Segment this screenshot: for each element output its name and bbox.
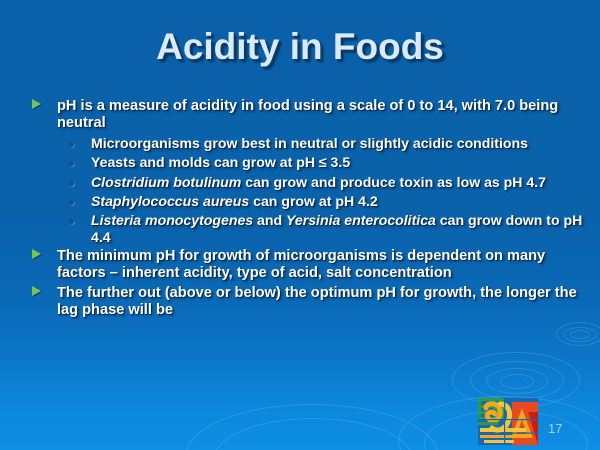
list-item: The minimum pH for growth of microorgani… xyxy=(22,248,584,282)
list-item-label: pH is a measure of acidity in food using… xyxy=(57,98,558,131)
arrow-bullet-icon xyxy=(32,99,41,109)
list-item-label: can grow at pH 4.2 xyxy=(249,193,377,209)
species-name: Yersinia enterocolitica xyxy=(286,212,436,228)
list-item: Microorganisms grow best in neutral or s… xyxy=(57,135,584,151)
list-item: The further out (above or below) the opt… xyxy=(22,285,584,319)
arrow-bullet-icon xyxy=(32,286,41,296)
species-name: Staphylococcus aureus xyxy=(91,193,249,209)
list-item-label: The further out (above or below) the opt… xyxy=(57,285,577,318)
slide-number: 17 xyxy=(548,421,562,436)
species-name: Listeria monocytogenes xyxy=(91,212,253,228)
bullet-list: pH is a measure of acidity in food using… xyxy=(22,98,584,321)
dot-bullet-icon xyxy=(69,142,74,147)
list-item-label: can grow and produce toxin as low as pH … xyxy=(241,174,546,190)
list-item-conjunction: and xyxy=(253,212,286,228)
logo-graphic xyxy=(478,398,538,445)
list-item: Listeria monocytogenes and Yersinia ente… xyxy=(57,212,584,245)
list-item: Staphylococcus aureus can grow at pH 4.2 xyxy=(57,193,584,209)
dot-bullet-icon xyxy=(69,200,74,205)
list-item-label: Microorganisms grow best in neutral or s… xyxy=(91,135,528,151)
dot-bullet-icon xyxy=(69,219,74,224)
list-item: pH is a measure of acidity in food using… xyxy=(22,98,584,132)
page-title: Acidity in Foods xyxy=(0,26,600,68)
dot-bullet-icon xyxy=(69,161,74,166)
slide-canvas: Acidity in Foods pH is a measure of acid… xyxy=(0,0,600,450)
species-name: Clostridium botulinum xyxy=(91,174,241,190)
dot-bullet-icon xyxy=(69,181,74,186)
organization-logo xyxy=(478,398,538,445)
list-item: Clostridium botulinum can grow and produ… xyxy=(57,174,584,190)
arrow-bullet-icon xyxy=(32,249,41,259)
list-item-label: The minimum pH for growth of microorgani… xyxy=(57,248,545,281)
list-item-label: Yeasts and molds can grow at pH ≤ 3.5 xyxy=(91,154,350,170)
list-item: Yeasts and molds can grow at pH ≤ 3.5 xyxy=(57,154,584,170)
